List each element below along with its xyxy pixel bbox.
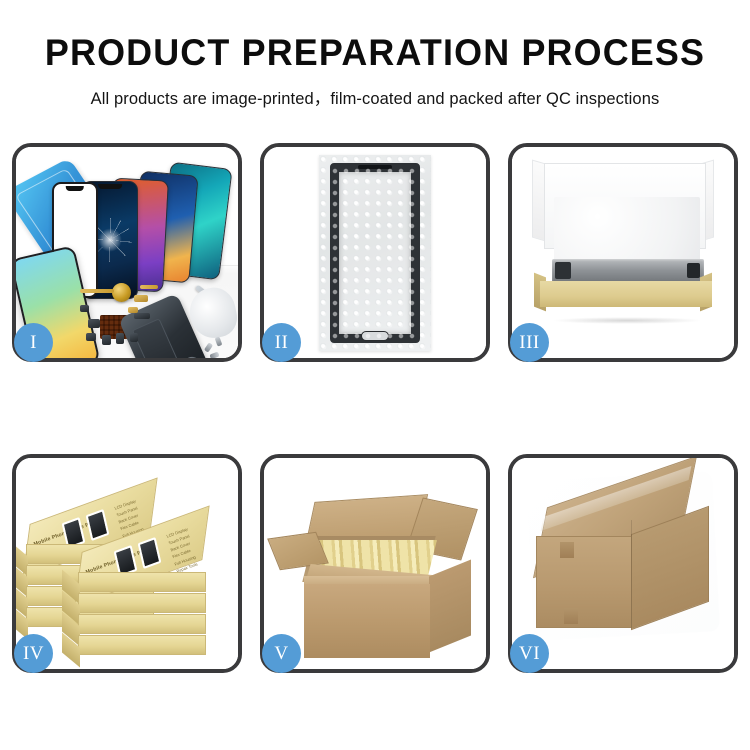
carton-corner-tab	[564, 608, 578, 624]
lcd-screen-frame	[330, 163, 420, 343]
stacked-boxes-scene: Mobile Phone Spare Parts LCD Display Tou…	[16, 458, 238, 669]
step-badge-1: I	[14, 323, 53, 362]
small-component	[116, 333, 124, 344]
small-component	[130, 333, 138, 342]
step-3-image	[512, 147, 734, 358]
step-5-image	[264, 458, 486, 669]
step-6-image	[512, 458, 734, 669]
step-badge-4: IV	[14, 634, 53, 673]
carton-front-face	[536, 536, 632, 628]
carton-side-right	[429, 560, 471, 653]
header: PRODUCT PREPARATION PROCESS All products…	[0, 0, 750, 109]
box-body-front	[540, 281, 712, 307]
process-step-3[interactable]: III	[508, 143, 738, 362]
step-badge-5: V	[262, 634, 301, 673]
small-component	[88, 319, 100, 328]
small-component	[86, 333, 96, 341]
process-step-6[interactable]: VI	[508, 454, 738, 673]
stacked-box	[78, 635, 206, 655]
phones-and-parts-scene	[16, 147, 238, 358]
carton-corner-tab	[560, 542, 574, 558]
open-carton-scene	[264, 458, 486, 669]
screw-part	[215, 336, 223, 346]
flex-cable-part	[140, 285, 158, 289]
page-title: PRODUCT PREPARATION PROCESS	[11, 34, 739, 71]
process-step-1[interactable]: I	[12, 143, 242, 362]
small-component	[134, 313, 150, 319]
gold-connector-part	[134, 295, 148, 302]
page-subtitle: All products are image-printed，film-coat…	[0, 85, 750, 109]
foam-padding	[554, 197, 700, 263]
product-preparation-infographic: PRODUCT PREPARATION PROCESS All products…	[0, 0, 750, 750]
process-step-2[interactable]: II	[260, 143, 490, 362]
step-badge-3: III	[510, 323, 549, 362]
process-step-grid: I II	[12, 143, 738, 673]
process-step-4[interactable]: Mobile Phone Spare Parts LCD Display Tou…	[12, 454, 242, 673]
phone-notch	[66, 186, 84, 191]
bubble-wrap-sheet	[319, 155, 431, 351]
open-inner-box-scene	[512, 147, 734, 358]
flex-cable-part	[80, 289, 114, 293]
stacked-box	[78, 593, 206, 613]
carton-edge-seam	[631, 520, 632, 628]
speaker-coil-part	[112, 283, 131, 302]
step-1-image	[16, 147, 238, 358]
carton-front-face	[304, 584, 430, 658]
bubble-wrapped-screen-scene	[264, 147, 486, 358]
step-2-image	[264, 147, 486, 358]
sealed-carton-scene	[512, 458, 734, 669]
stacked-box	[78, 614, 206, 634]
phone-notch	[98, 184, 122, 189]
step-4-image: Mobile Phone Spare Parts LCD Display Tou…	[16, 458, 238, 669]
screw-part	[204, 342, 213, 352]
process-step-5[interactable]: V	[260, 454, 490, 673]
small-component	[102, 335, 111, 345]
step-badge-2: II	[262, 323, 301, 362]
step-badge-6: VI	[510, 634, 549, 673]
box-shadow	[552, 317, 702, 324]
screw-part	[209, 352, 219, 358]
stacked-box	[78, 572, 206, 592]
small-component	[80, 305, 89, 312]
